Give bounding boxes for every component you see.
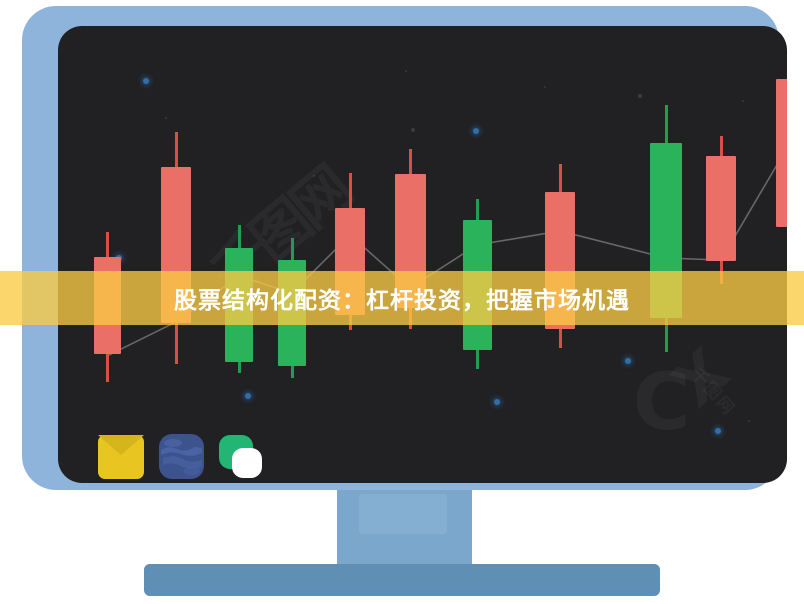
monitor-stand-neck-highlight — [359, 494, 447, 534]
candlestick — [545, 26, 575, 483]
candlestick — [650, 26, 682, 483]
candlestick — [335, 26, 365, 483]
candlestick — [463, 26, 492, 483]
monitor-stand-base — [144, 564, 660, 596]
dock-item-mail[interactable] — [98, 435, 144, 479]
globe-icon-glyph — [159, 434, 204, 479]
candlestick — [278, 26, 306, 483]
candlestick-body — [776, 79, 787, 227]
mail-icon-flap — [98, 435, 144, 455]
monitor-screen: 千图网 X C 千图网 — [58, 26, 787, 483]
page-title: 股票结构化配资：杠杆投资，把握市场机遇 — [174, 281, 630, 315]
dock-item-messenger[interactable] — [219, 435, 263, 479]
candlestick-chart — [58, 26, 787, 483]
monitor-stand-neck — [337, 490, 472, 572]
candlestick — [395, 26, 426, 483]
monitor-stand-base-highlight — [144, 564, 660, 588]
candlestick — [161, 26, 191, 483]
candlestick — [225, 26, 253, 483]
title-banner: 股票结构化配资：杠杆投资，把握市场机遇 — [0, 271, 804, 325]
candlestick — [94, 26, 121, 483]
dock-item-browser[interactable] — [159, 434, 204, 479]
candlestick — [776, 26, 787, 483]
candlestick-body — [706, 156, 736, 261]
monitor-frame: 千图网 X C 千图网 — [22, 6, 779, 490]
chat-icon-front — [232, 448, 262, 478]
mail-icon[interactable] — [98, 435, 144, 479]
candlestick — [706, 26, 736, 483]
taskbar-dock — [98, 434, 263, 479]
globe-icon[interactable] — [159, 434, 204, 479]
